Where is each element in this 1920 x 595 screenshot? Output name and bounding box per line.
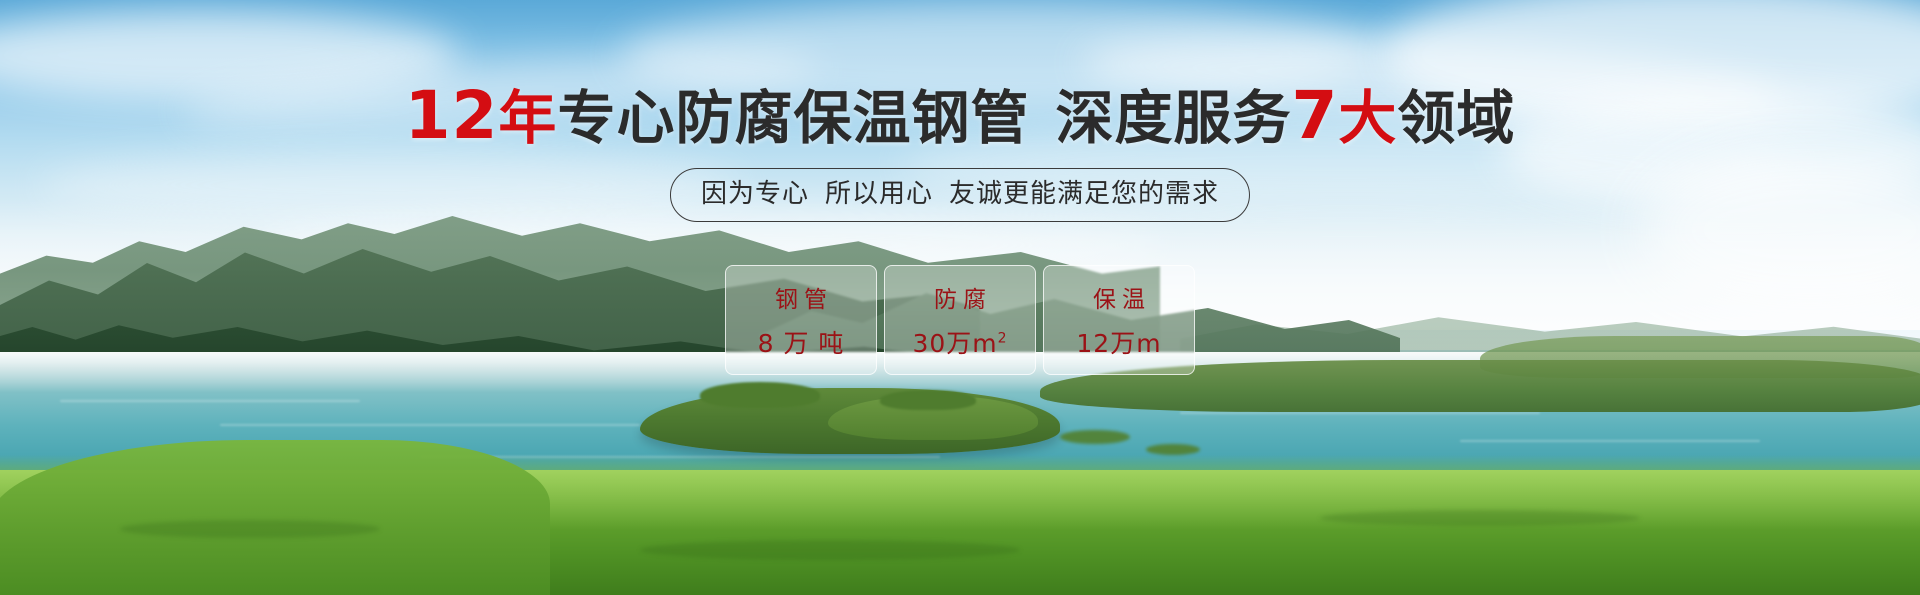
islet-small <box>1060 430 1130 444</box>
grass-texture <box>1320 510 1640 526</box>
grass-left-bank <box>0 440 550 595</box>
headline-segment-3: 领域 <box>1397 84 1515 152</box>
stat-value: 30万m2 <box>912 324 1007 360</box>
stat-title: 防腐 <box>928 280 992 314</box>
headline-highlight-number: 7 <box>1291 77 1338 154</box>
water-ripple <box>1180 412 1540 414</box>
water-ripple <box>60 400 360 402</box>
water-ripple <box>220 424 640 426</box>
grass-texture <box>640 540 1020 560</box>
headline-years-unit: 年 <box>498 84 557 152</box>
stat-card-insulation: 保温 12万m <box>1043 265 1195 375</box>
island-tuft <box>700 382 820 408</box>
water-ripple <box>1460 440 1760 442</box>
island-tuft <box>880 390 976 410</box>
islet-small <box>1146 444 1200 455</box>
headline-years-number: 12 <box>405 77 499 154</box>
tagline-pill: 因为专心所以用心友诚更能满足您的需求 <box>670 168 1250 222</box>
tagline-part-2: 所以用心 <box>825 179 933 209</box>
headline: 12年专心防腐保温钢管深度服务7大领域 <box>0 85 1920 149</box>
tagline-part-3: 友诚更能满足您的需求 <box>949 179 1219 209</box>
headline-segment-2: 深度服务 <box>1055 84 1291 152</box>
stat-value: 12万m <box>1076 324 1161 360</box>
stat-title: 保温 <box>1087 280 1151 314</box>
hero-banner: 12年专心防腐保温钢管深度服务7大领域 因为专心所以用心友诚更能满足您的需求 钢… <box>0 0 1920 595</box>
stat-card-steel-pipe: 钢管 8 万 吨 <box>725 265 877 375</box>
stat-card-group: 钢管 8 万 吨 防腐 30万m2 保温 12万m <box>725 265 1195 375</box>
headline-segment-1: 专心防腐保温钢管 <box>557 84 1029 152</box>
stat-value-superscript: 2 <box>998 331 1008 347</box>
stat-value-main: 12万m <box>1076 329 1161 358</box>
stat-title: 钢管 <box>769 280 833 314</box>
stat-card-anticorrosion: 防腐 30万m2 <box>884 265 1036 375</box>
stat-value-main: 8 万 吨 <box>758 329 845 358</box>
tagline-part-1: 因为专心 <box>701 179 809 209</box>
stat-value-main: 30万m <box>912 329 997 358</box>
stat-value: 8 万 吨 <box>758 324 845 360</box>
headline-highlight-unit: 大 <box>1338 84 1397 152</box>
grass-texture <box>120 520 380 538</box>
